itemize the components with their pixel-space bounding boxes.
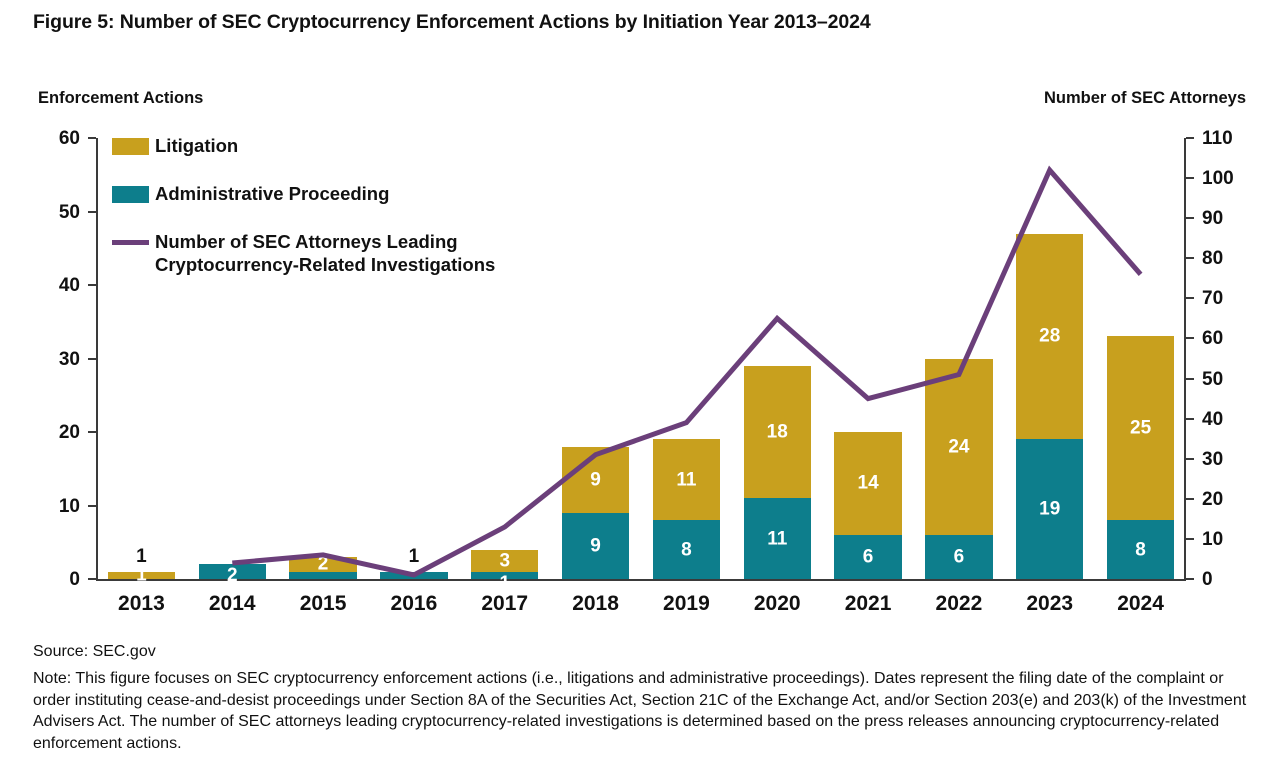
left-tick-label: 20 — [59, 423, 80, 442]
left-tick-label: 10 — [59, 497, 80, 516]
right-tick-label: 70 — [1202, 289, 1223, 308]
x-axis-label: 2022 — [914, 593, 1005, 614]
right-tick-label: 20 — [1202, 490, 1223, 509]
right-tick — [1186, 378, 1194, 380]
chart-legend: LitigationAdministrative ProceedingNumbe… — [112, 134, 632, 301]
legend-item-litigation[interactable]: Litigation — [112, 134, 632, 157]
legend-swatch-icon — [112, 240, 149, 245]
right-tick — [1186, 538, 1194, 540]
legend-item-label: Administrative Proceeding — [155, 182, 389, 205]
x-axis-label: 2014 — [187, 593, 278, 614]
right-tick-label: 50 — [1202, 370, 1223, 389]
x-axis-label: 2024 — [1095, 593, 1186, 614]
right-tick-label: 0 — [1202, 570, 1213, 589]
right-tick-label: 40 — [1202, 410, 1223, 429]
x-axis-labels: 2013201420152016201720182019202020212022… — [96, 593, 1186, 623]
legend-swatch-icon — [112, 138, 149, 155]
x-axis-label: 2019 — [641, 593, 732, 614]
right-tick — [1186, 257, 1194, 259]
x-axis-label: 2021 — [823, 593, 914, 614]
legend-item-sec-attorneys-line[interactable]: Number of SEC Attorneys Leading Cryptocu… — [112, 230, 632, 276]
left-tick-label: 60 — [59, 129, 80, 148]
x-axis-label: 2023 — [1004, 593, 1095, 614]
x-axis-label: 2018 — [550, 593, 641, 614]
x-axis-label: 2013 — [96, 593, 187, 614]
right-tick-label: 60 — [1202, 329, 1223, 348]
right-tick-label: 110 — [1202, 129, 1233, 148]
right-tick-label: 30 — [1202, 450, 1223, 469]
right-tick — [1186, 297, 1194, 299]
right-tick-label: 100 — [1202, 169, 1234, 188]
left-tick-label: 50 — [59, 203, 80, 222]
left-tick — [88, 431, 96, 433]
right-tick — [1186, 177, 1194, 179]
left-tick-label: 40 — [59, 276, 80, 295]
left-tick-label: 0 — [69, 570, 80, 589]
x-axis-label: 2015 — [278, 593, 369, 614]
right-tick — [1186, 418, 1194, 420]
x-axis-label: 2016 — [369, 593, 460, 614]
left-tick — [88, 284, 96, 286]
legend-item-label: Litigation — [155, 134, 238, 157]
page-title: Figure 5: Number of SEC Cryptocurrency E… — [33, 8, 1133, 36]
right-tick-label: 80 — [1202, 249, 1223, 268]
left-tick-label: 30 — [59, 350, 80, 369]
legend-swatch-icon — [112, 186, 149, 203]
right-tick — [1186, 498, 1194, 500]
right-tick — [1186, 578, 1194, 580]
right-tick-label: 90 — [1202, 209, 1223, 228]
right-tick — [1186, 137, 1194, 139]
x-axis-label: 2020 — [732, 593, 823, 614]
right-tick — [1186, 217, 1194, 219]
left-tick — [88, 137, 96, 139]
source-note: Source: SEC.gov — [33, 643, 156, 661]
right-axis-caption: Number of SEC Attorneys — [1044, 89, 1246, 108]
right-tick-label: 10 — [1202, 530, 1223, 549]
left-tick — [88, 358, 96, 360]
x-axis-label: 2017 — [459, 593, 550, 614]
left-axis-caption: Enforcement Actions — [38, 89, 203, 108]
figure-page: Figure 5: Number of SEC Cryptocurrency E… — [0, 0, 1276, 772]
legend-item-administrative-proceeding[interactable]: Administrative Proceeding — [112, 182, 632, 205]
left-tick — [88, 578, 96, 580]
figure-note: Note: This figure focuses on SEC cryptoc… — [33, 668, 1251, 754]
right-tick — [1186, 337, 1194, 339]
left-tick — [88, 211, 96, 213]
left-tick — [88, 505, 96, 507]
legend-item-label: Number of SEC Attorneys Leading Cryptocu… — [155, 230, 495, 276]
right-tick — [1186, 458, 1194, 460]
